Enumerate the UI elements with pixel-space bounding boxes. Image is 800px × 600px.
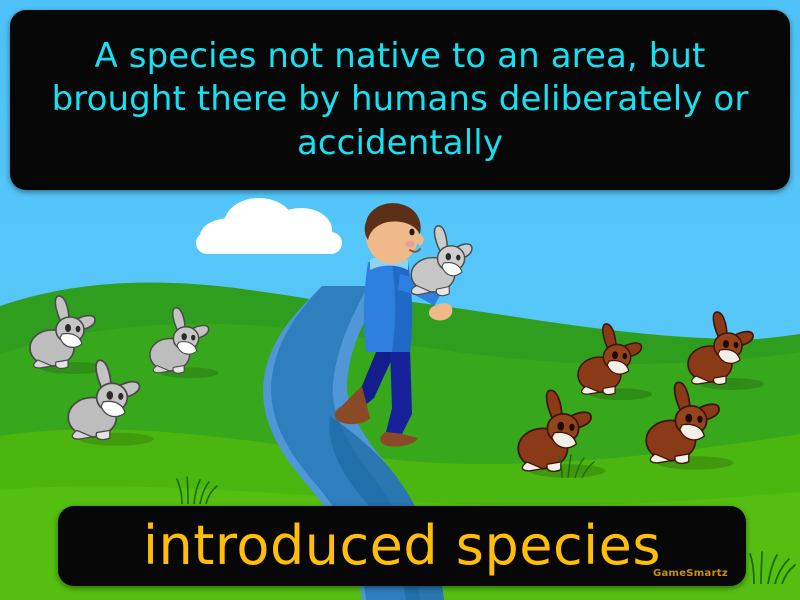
title-panel: introduced species GameSmartz: [58, 506, 746, 586]
gray-rabbit-2: [148, 306, 224, 380]
grass-tuft-left: [174, 474, 220, 504]
definition-card: A species not native to an area, but bro…: [0, 0, 800, 600]
definition-text: A species not native to an area, but bro…: [10, 35, 790, 166]
cloud-icon: [196, 192, 346, 254]
gray-rabbit-3: [66, 358, 158, 448]
term-title: introduced species: [58, 519, 746, 573]
watermark-label: GameSmartz: [653, 568, 728, 579]
held-gray-rabbit: [404, 222, 480, 304]
brown-rabbit-4: [644, 380, 738, 472]
grass-tuft-right: [556, 452, 598, 478]
definition-panel: A species not native to an area, but bro…: [10, 10, 790, 190]
grass-tuft-bottom-right: [748, 548, 796, 584]
